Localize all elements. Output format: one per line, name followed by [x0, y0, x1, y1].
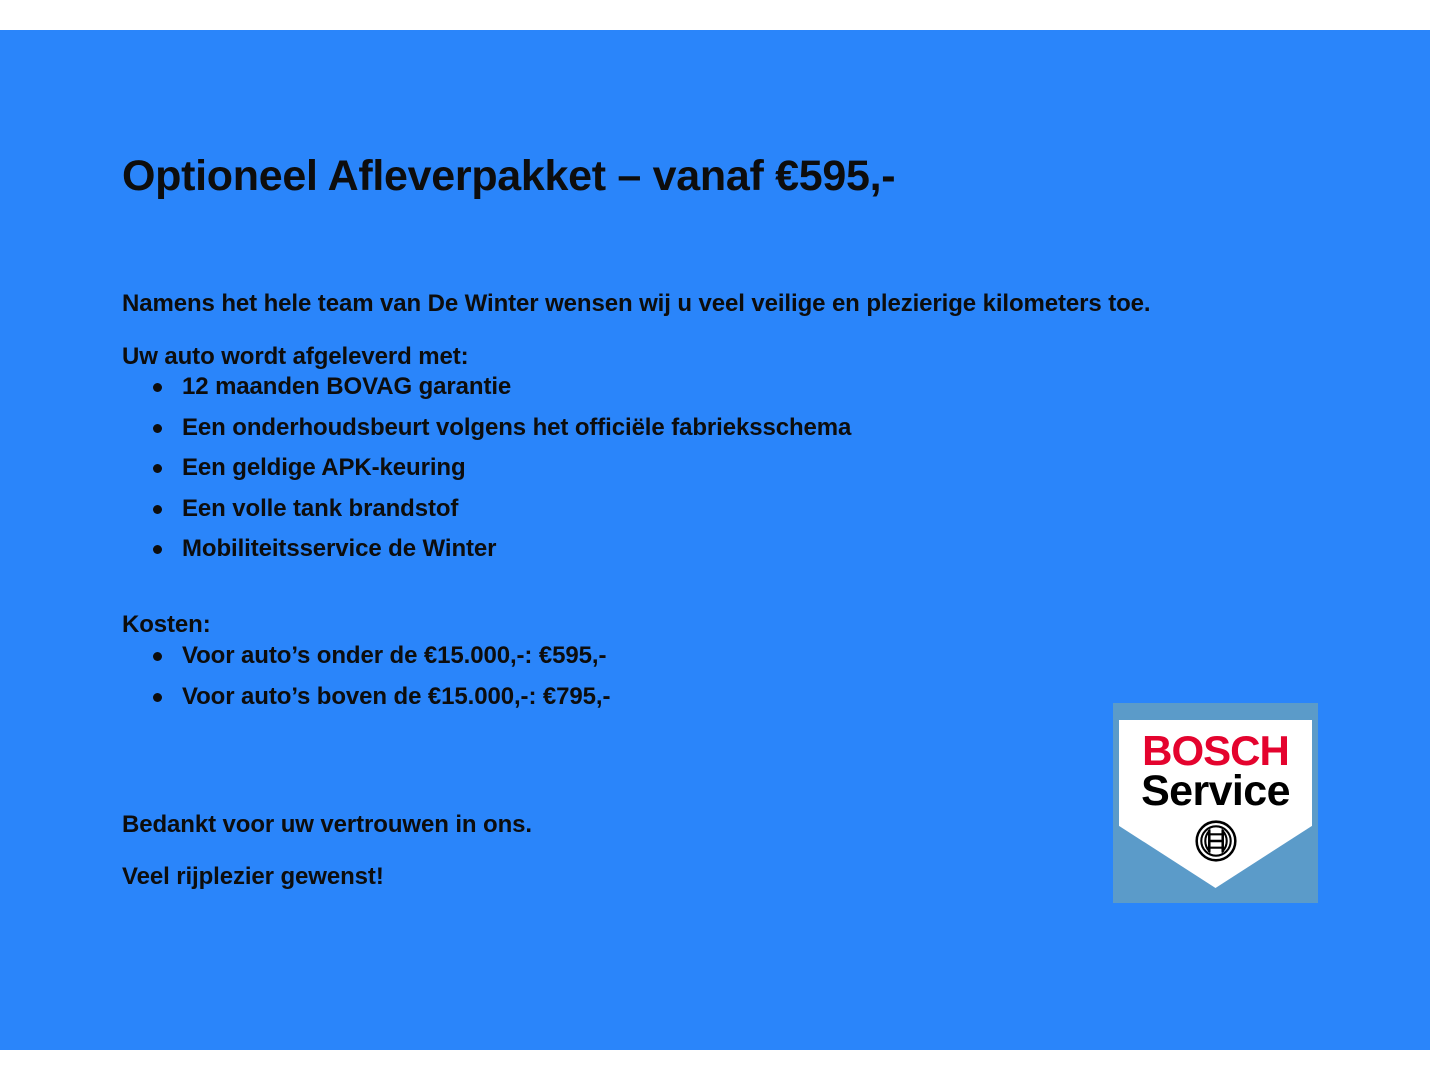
list-item-label: Een volle tank brandstof: [182, 495, 458, 522]
list-item: Voor auto’s boven de €15.000,-: €795,-: [122, 677, 610, 718]
features-list: 12 maanden BOVAG garantie Een onderhouds…: [122, 367, 851, 570]
list-item: Een onderhoudsbeurt volgens het officiël…: [122, 408, 851, 449]
list-item-label: Een geldige APK-keuring: [182, 454, 466, 481]
list-item-label: 12 maanden BOVAG garantie: [182, 373, 511, 400]
bosch-armature-emblem-icon: [1195, 820, 1237, 862]
bullet-dot-icon: [153, 545, 162, 554]
bullet-dot-icon: [153, 693, 162, 702]
bullet-dot-icon: [153, 505, 162, 514]
bullet-dot-icon: [153, 424, 162, 433]
list-item: Mobiliteitsservice de Winter: [122, 529, 851, 570]
slide-canvas: Optioneel Afleverpakket – vanaf €595,- N…: [0, 30, 1430, 1050]
closing-paragraph: Veel rijplezier gewenst!: [122, 863, 384, 891]
list-item: 12 maanden BOVAG garantie: [122, 367, 851, 408]
list-item-label: Een onderhoudsbeurt volgens het officiël…: [182, 414, 851, 441]
list-item-label: Mobiliteitsservice de Winter: [182, 535, 496, 562]
costs-list: Voor auto’s onder de €15.000,-: €595,- V…: [122, 636, 610, 717]
slide-root: Optioneel Afleverpakket – vanaf €595,- N…: [0, 0, 1440, 1080]
list-item: Een volle tank brandstof: [122, 489, 851, 530]
thanks-paragraph: Bedankt voor uw vertrouwen in ons.: [122, 811, 532, 839]
costs-heading: Kosten:: [122, 611, 211, 639]
bullet-dot-icon: [153, 464, 162, 473]
page-title: Optioneel Afleverpakket – vanaf €595,-: [122, 152, 895, 201]
bosch-service-logo: BOSCH Service: [1113, 703, 1318, 903]
service-wordmark: Service: [1119, 770, 1312, 813]
list-item: Een geldige APK-keuring: [122, 448, 851, 489]
list-item: Voor auto’s onder de €15.000,-: €595,-: [122, 636, 610, 677]
list-item-label: Voor auto’s boven de €15.000,-: €795,-: [182, 683, 610, 710]
logo-shield-shape: BOSCH Service: [1119, 720, 1312, 888]
bullet-dot-icon: [153, 652, 162, 661]
intro-paragraph: Namens het hele team van De Winter wense…: [122, 290, 1151, 318]
bosch-wordmark: BOSCH: [1119, 730, 1312, 772]
list-item-label: Voor auto’s onder de €15.000,-: €595,-: [182, 642, 606, 669]
bullet-dot-icon: [153, 383, 162, 392]
